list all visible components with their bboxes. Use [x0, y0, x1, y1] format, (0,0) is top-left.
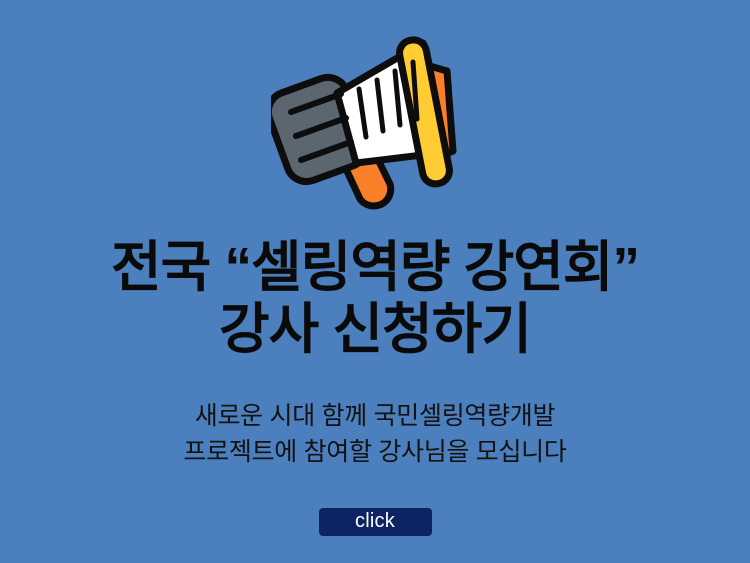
- subtitle: 새로운 시대 함께 국민셀링역량개발 프로젝트에 참여할 강사님을 모십니다: [0, 398, 750, 470]
- megaphone-icon: [271, 21, 479, 211]
- click-button[interactable]: click: [319, 508, 432, 536]
- megaphone-illustration: [0, 18, 750, 213]
- promo-banner: 전국 “셀링역량 강연회” 강사 신청하기 새로운 시대 함께 국민셀링역량개발…: [0, 0, 750, 563]
- headline-line-2: 강사 신청하기: [0, 298, 750, 360]
- headline: 전국 “셀링역량 강연회” 강사 신청하기: [0, 236, 750, 360]
- headline-line-1: 전국 “셀링역량 강연회”: [0, 236, 750, 298]
- subtitle-line-1: 새로운 시대 함께 국민셀링역량개발: [0, 398, 750, 434]
- cta-container: click: [0, 508, 750, 536]
- subtitle-line-2: 프로젝트에 참여할 강사님을 모십니다: [0, 434, 750, 470]
